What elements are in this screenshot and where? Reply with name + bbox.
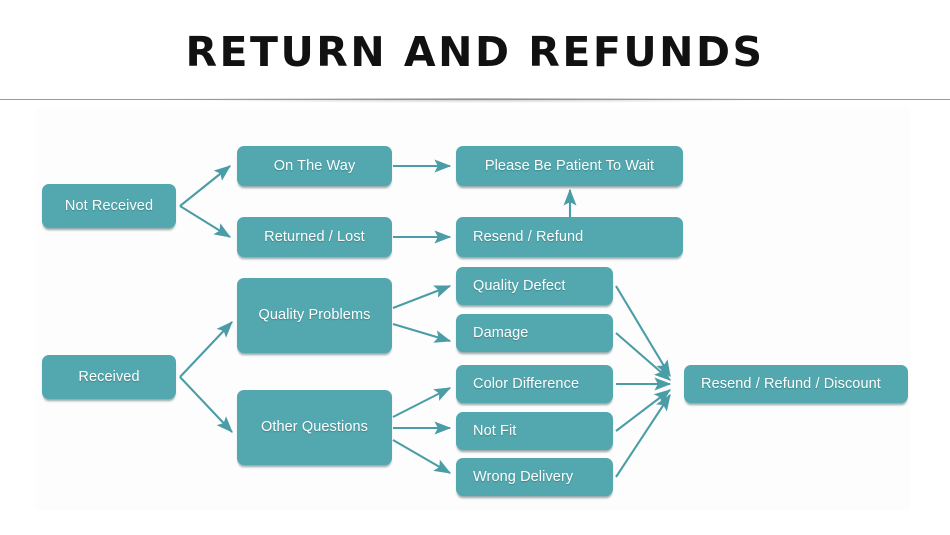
node-quality-problems[interactable]: Quality Problems bbox=[237, 278, 392, 353]
edge-other-questions-to-color-difference bbox=[393, 388, 450, 417]
node-resend-refund-discount[interactable]: Resend / Refund / Discount bbox=[684, 365, 908, 403]
node-damage[interactable]: Damage bbox=[456, 314, 613, 352]
node-other-questions[interactable]: Other Questions bbox=[237, 390, 392, 465]
edge-quality-problems-to-quality-defect bbox=[393, 286, 450, 308]
flowchart-diagram: Not Received On The Way Returned / Lost … bbox=[0, 100, 950, 535]
edge-quality-defect-to-resend-refund-discount bbox=[616, 286, 670, 376]
edge-wrong-delivery-to-resend-refund-discount bbox=[616, 395, 670, 477]
edge-other-questions-to-wrong-delivery bbox=[393, 440, 450, 473]
node-please-be-patient-to-wait[interactable]: Please Be Patient To Wait bbox=[456, 146, 683, 186]
node-not-fit[interactable]: Not Fit bbox=[456, 412, 613, 450]
node-quality-defect[interactable]: Quality Defect bbox=[456, 267, 613, 305]
node-wrong-delivery[interactable]: Wrong Delivery bbox=[456, 458, 613, 496]
node-on-the-way[interactable]: On The Way bbox=[237, 146, 392, 186]
edge-not-received-to-returned-lost bbox=[180, 206, 230, 237]
page-title: RETURN AND REFUNDS bbox=[0, 26, 950, 78]
edge-received-to-other-questions bbox=[180, 377, 232, 432]
node-not-received[interactable]: Not Received bbox=[42, 184, 176, 228]
node-received[interactable]: Received bbox=[42, 355, 176, 399]
edge-not-fit-to-resend-refund-discount bbox=[616, 390, 670, 431]
node-resend-refund[interactable]: Resend / Refund bbox=[456, 217, 683, 257]
title-bar: RETURN AND REFUNDS bbox=[0, 0, 950, 100]
node-color-difference[interactable]: Color Difference bbox=[456, 365, 613, 403]
edge-not-received-to-on-the-way bbox=[180, 166, 230, 206]
edge-damage-to-resend-refund-discount bbox=[616, 333, 670, 380]
node-returned-lost[interactable]: Returned / Lost bbox=[237, 217, 392, 257]
edge-quality-problems-to-damage bbox=[393, 324, 450, 341]
edge-received-to-quality-problems bbox=[180, 322, 232, 377]
